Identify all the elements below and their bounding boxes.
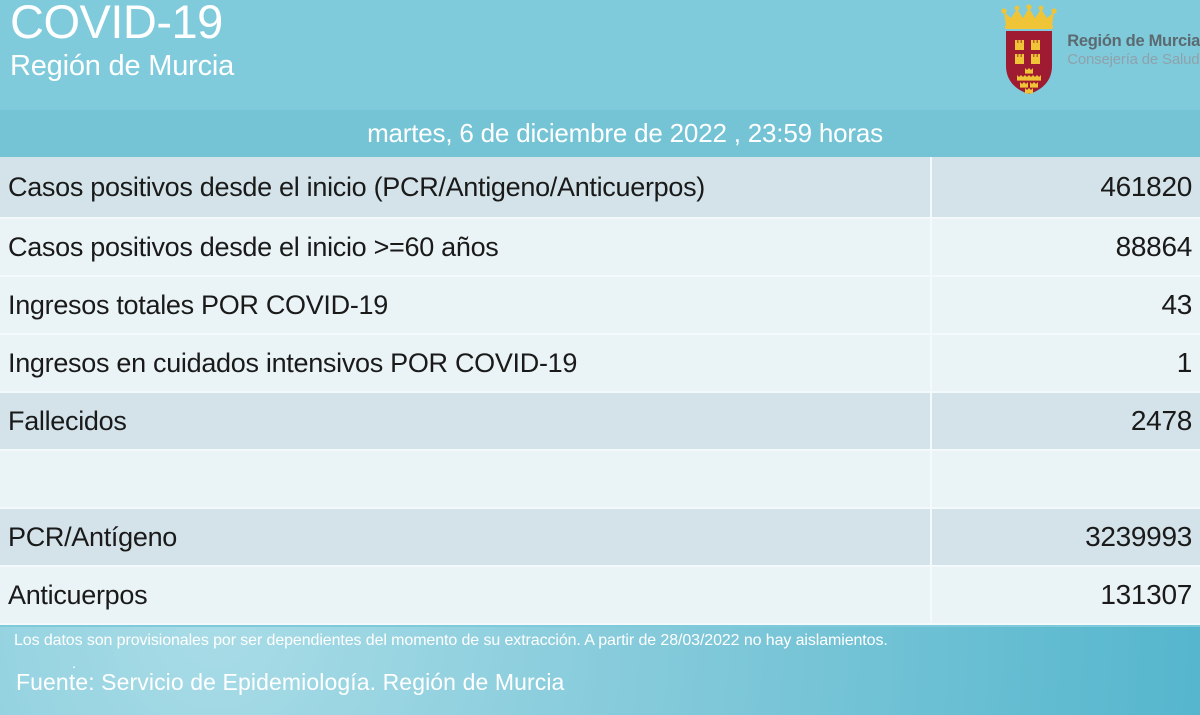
covid-report-page: COVID-19 Región de Murcia — [0, 0, 1200, 715]
column-divider — [930, 509, 932, 565]
row-value: 88864 — [930, 231, 1200, 263]
coat-of-arms-icon — [998, 4, 1060, 96]
table-row — [0, 451, 1200, 509]
logo-text: Región de Murcia Consejería de Salud — [1067, 32, 1200, 69]
row-label: Casos positivos desde el inicio (PCR/Ant… — [0, 172, 930, 203]
column-divider — [930, 157, 932, 217]
row-value: 1 — [930, 347, 1200, 379]
table-row: Fallecidos2478 — [0, 393, 1200, 451]
row-label: PCR/Antígeno — [0, 522, 930, 553]
row-value: 2478 — [930, 405, 1200, 437]
row-label: Ingresos en cuidados intensivos POR COVI… — [0, 348, 930, 379]
table-row: Casos positivos desde el inicio (PCR/Ant… — [0, 157, 1200, 219]
report-datetime: martes, 6 de diciembre de 2022 , 23:59 h… — [317, 118, 883, 149]
page-title: COVID-19 — [10, 0, 234, 48]
column-divider — [930, 567, 932, 623]
column-divider — [930, 277, 932, 333]
row-value: 131307 — [930, 579, 1200, 611]
table-row: Ingresos en cuidados intensivos POR COVI… — [0, 335, 1200, 393]
logo: Región de Murcia Consejería de Salud — [998, 4, 1200, 96]
row-label: Ingresos totales POR COVID-19 — [0, 290, 930, 321]
table-row: Anticuerpos131307 — [0, 567, 1200, 625]
table-row: Casos positivos desde el inicio >=60 año… — [0, 219, 1200, 277]
row-label: Anticuerpos — [0, 580, 930, 611]
page-subtitle: Región de Murcia — [10, 48, 234, 84]
page-header: COVID-19 Región de Murcia — [0, 0, 1200, 108]
logo-title: Región de Murcia — [1067, 32, 1200, 51]
date-band: martes, 6 de diciembre de 2022 , 23:59 h… — [0, 110, 1200, 157]
column-divider — [930, 451, 932, 507]
table-row: PCR/Antígeno3239993 — [0, 509, 1200, 567]
column-divider — [930, 335, 932, 391]
logo-department: Consejería de Salud — [1067, 51, 1200, 69]
title-block: COVID-19 Región de Murcia — [10, 0, 234, 84]
row-value: 43 — [930, 289, 1200, 321]
row-label: Casos positivos desde el inicio >=60 año… — [0, 232, 930, 263]
row-value: 3239993 — [930, 521, 1200, 553]
column-divider — [930, 393, 932, 449]
column-divider — [930, 219, 932, 275]
page-footer: Los datos son provisionales por ser depe… — [0, 627, 1200, 715]
footnote-text: Los datos son provisionales por ser depe… — [14, 632, 888, 650]
statistics-table: Casos positivos desde el inicio (PCR/Ant… — [0, 157, 1200, 625]
row-label: Fallecidos — [0, 406, 930, 437]
source-text: Fuente: Servicio de Epidemiología. Regió… — [16, 669, 564, 696]
row-value: 461820 — [930, 171, 1200, 203]
table-row: Ingresos totales POR COVID-1943 — [0, 277, 1200, 335]
